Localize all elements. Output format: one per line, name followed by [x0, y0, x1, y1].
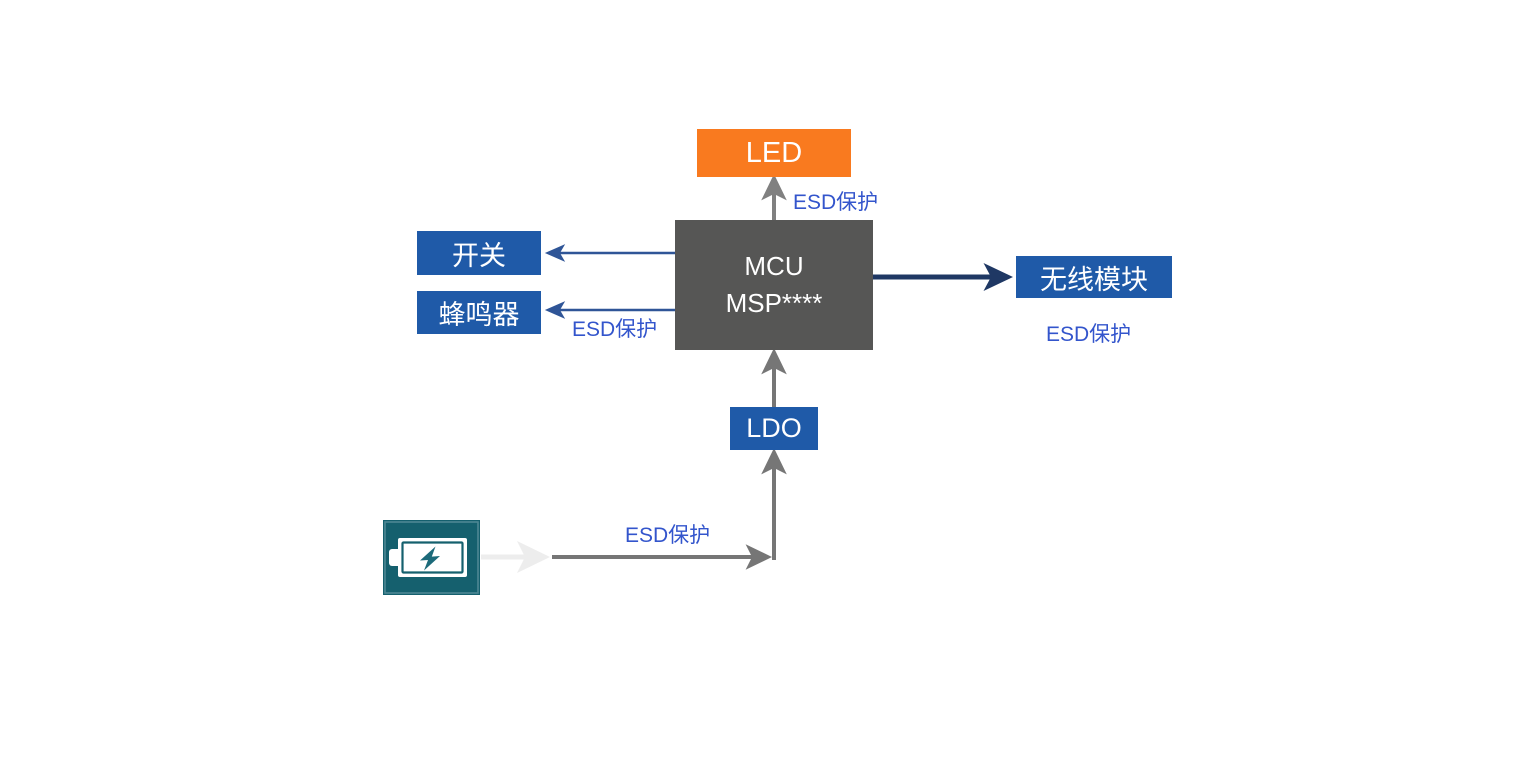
- node-wireless-module-label: 无线模块: [1040, 258, 1148, 297]
- node-wireless-module[interactable]: 无线模块: [1016, 256, 1172, 298]
- node-ldo-label: LDO: [746, 413, 802, 444]
- node-led[interactable]: LED: [697, 129, 851, 177]
- node-mcu[interactable]: MCU MSP****: [675, 220, 873, 350]
- node-switch-label: 开关: [452, 234, 506, 273]
- label-esd-left: ESD保护: [572, 313, 657, 343]
- label-esd-battery: ESD保护: [625, 519, 710, 549]
- label-esd-led: ESD保护: [793, 186, 878, 216]
- node-ldo[interactable]: LDO: [730, 407, 818, 450]
- node-switch[interactable]: 开关: [417, 231, 541, 275]
- diagram-canvas: LED MCU MSP**** 开关 蜂鸣器 无线模块 LDO ES: [0, 0, 1520, 763]
- battery-charging-icon: [383, 520, 480, 595]
- label-esd-wireless: ESD保护: [1046, 318, 1131, 348]
- node-buzzer-label: 蜂鸣器: [439, 293, 520, 332]
- connection-layer: [0, 0, 1520, 763]
- node-buzzer[interactable]: 蜂鸣器: [417, 291, 541, 334]
- node-mcu-label-line2: MSP****: [726, 285, 823, 322]
- node-mcu-label-line1: MCU: [744, 248, 803, 285]
- node-led-label: LED: [746, 137, 802, 170]
